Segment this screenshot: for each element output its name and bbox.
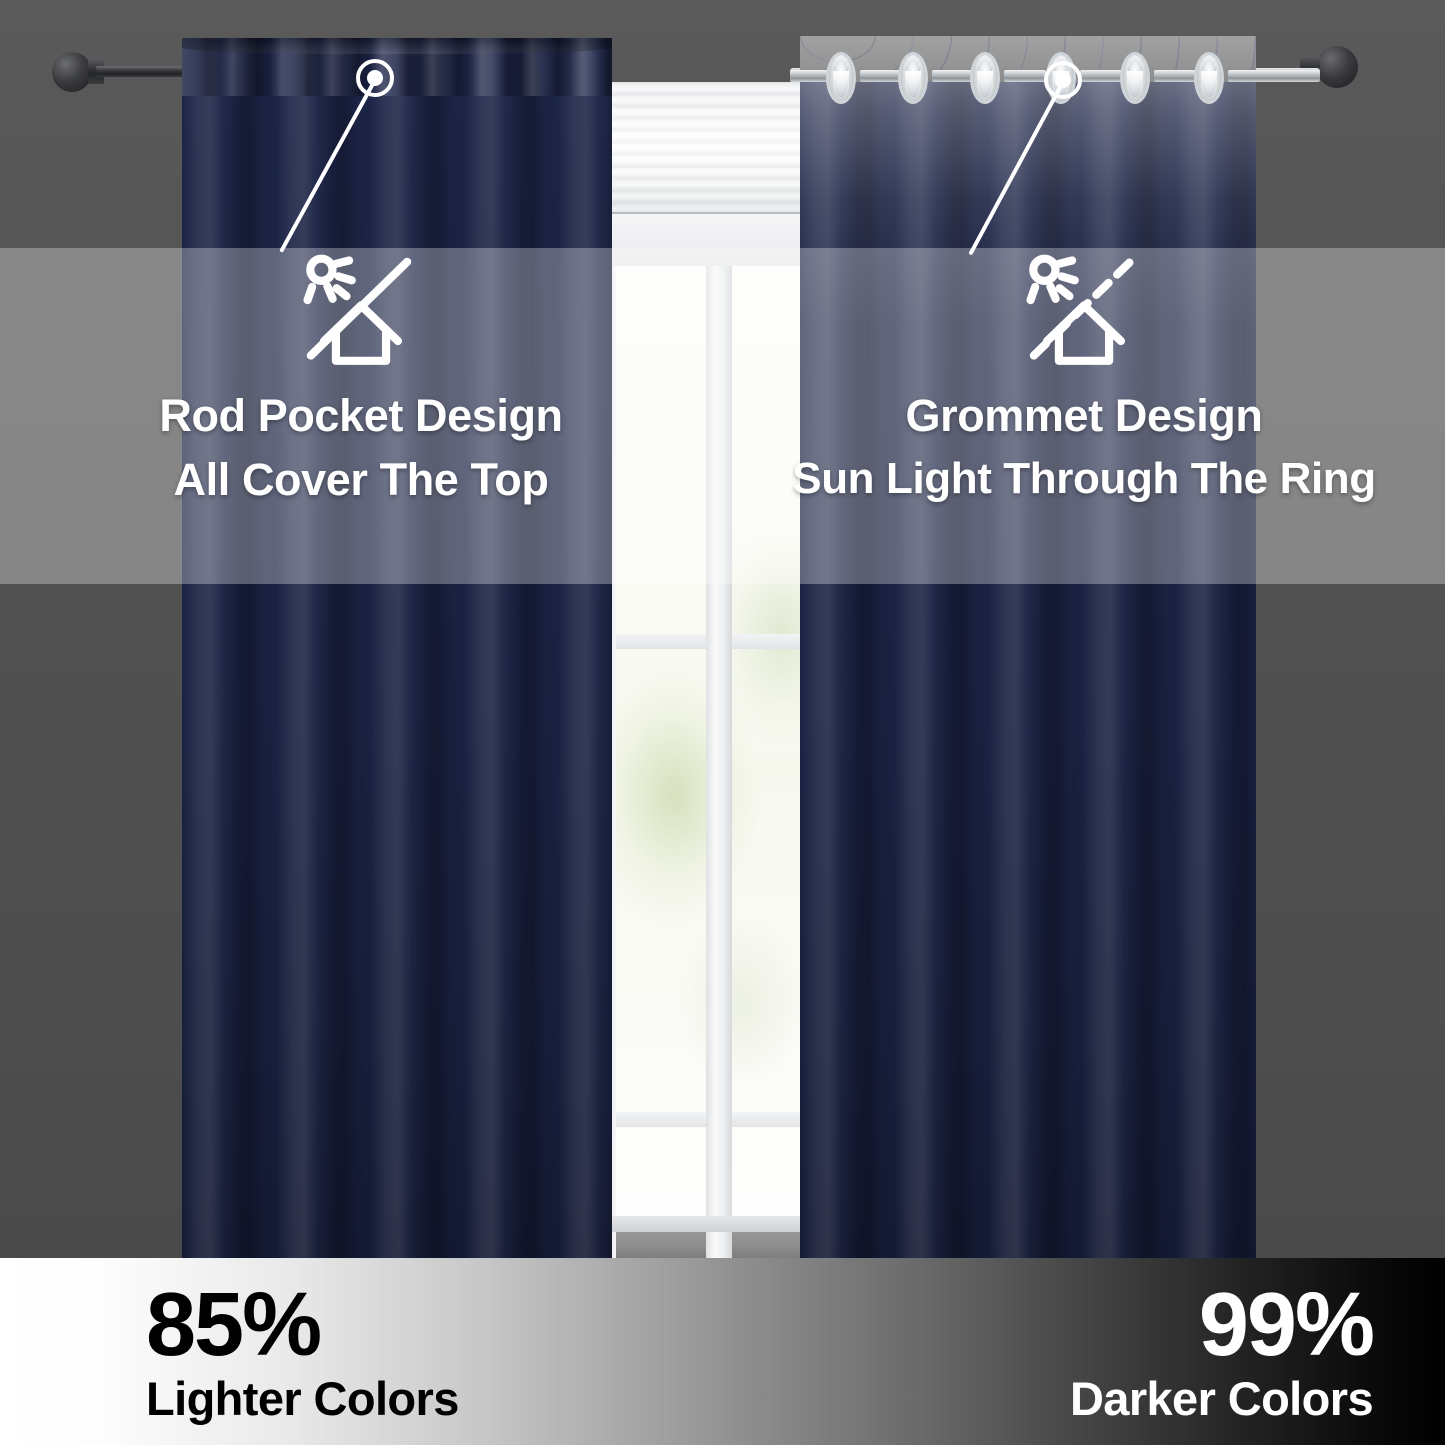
curtain-fabric [182,38,612,1258]
feature-title-line2: All Cover The Top [174,456,549,504]
rod-finial-ball-right-icon [1316,46,1358,88]
feature-title-line2: Sun Light Through The Ring [792,456,1375,503]
grommet-ring [1120,52,1150,104]
grommet-callout-pin-dot [1055,72,1071,88]
rod-segment [1228,70,1320,82]
rod-segment [790,70,830,82]
feature-info-band: Rod Pocket Design All Cover The Top Grom… [0,248,1445,584]
sun-blocked-house-icon [295,246,427,378]
window-blind [607,82,831,214]
sun-through-house-icon [1018,246,1150,378]
window-sill [607,1216,831,1232]
product-feature-image: Rod Pocket Design All Cover The Top Grom… [0,0,1445,1445]
stat-lighter-colors: 85% Lighter Colors [0,1258,722,1445]
curtain-panel-rod-pocket [182,38,612,1258]
stat-label: Darker Colors [1070,1375,1373,1422]
rod-pocket-callout-pin-dot [367,70,383,86]
rod-segment [1004,70,1046,82]
feature-column-rod-pocket: Rod Pocket Design All Cover The Top [0,248,722,584]
grommet-ring [898,52,928,104]
feature-title-line1: Rod Pocket Design [159,392,562,440]
stat-value: 99% [1199,1281,1373,1369]
stat-value: 85% [146,1281,320,1369]
stat-label: Lighter Colors [146,1375,459,1422]
feature-title-line1: Grommet Design [906,392,1263,440]
feature-column-grommet: Grommet Design Sun Light Through The Rin… [723,248,1445,584]
rod-segment [860,70,902,82]
rod-segment [1080,70,1124,82]
stat-darker-colors: 99% Darker Colors [723,1258,1445,1445]
curtain-fabric [800,36,1256,1258]
rod-segment [932,70,974,82]
grommet-ring [826,52,856,104]
rod-pocket-top-edge [182,38,612,54]
blackout-stats-banner: 85% Lighter Colors 99% Darker Colors [0,1258,1445,1445]
curtain-panel-grommet [800,36,1256,1258]
rod-segment [1154,70,1198,82]
rod-finial-ball-left-icon [52,52,92,92]
grommet-ring [1194,52,1224,104]
grommet-ring [970,52,1000,104]
